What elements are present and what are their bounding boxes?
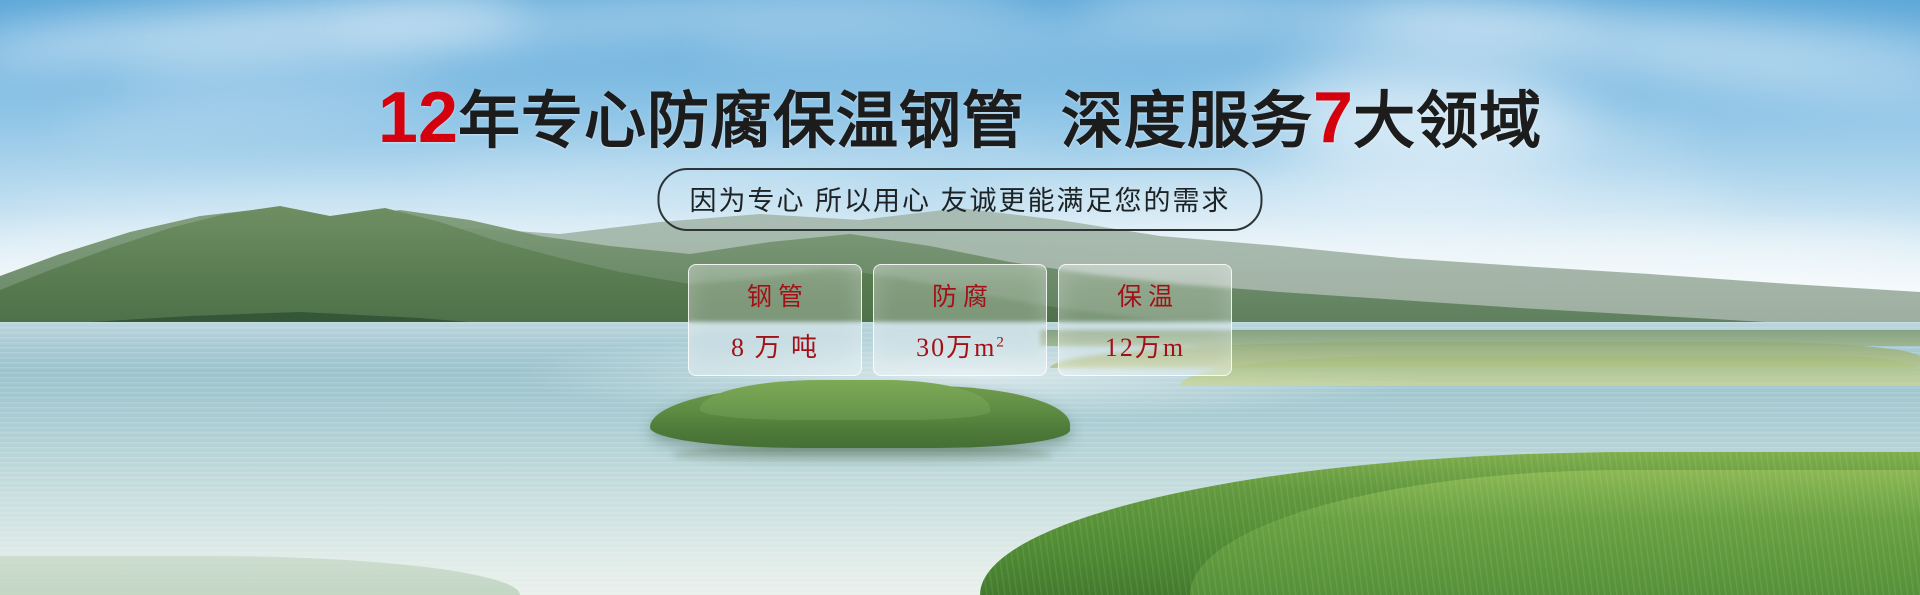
stat-card-value: 8 万 吨 (731, 327, 819, 364)
stat-card-label: 钢管 (741, 277, 809, 313)
marsh-bank (1180, 356, 1920, 386)
stat-card-value: 12万m (1105, 327, 1185, 364)
page-title: 12年专心防腐保温钢管深度服务7大领域 (0, 82, 1920, 154)
years-text: 年专心防腐保温钢管 (458, 87, 1025, 156)
stat-card: 钢管 8 万 吨 (688, 264, 862, 376)
stat-card-value-text: 8 万 吨 (731, 333, 819, 362)
grassy-island-top (700, 380, 990, 420)
fields-text: 大领域 (1353, 87, 1542, 156)
stat-card-value-text: 30万m (916, 333, 996, 362)
subtitle-pill: 因为专心 所以用心 友诚更能满足您的需求 (657, 168, 1262, 231)
stat-card-label: 保温 (1111, 277, 1179, 313)
fields-number: 7 (1313, 78, 1353, 158)
service-text: 深度服务 (1061, 87, 1313, 156)
stat-card-value-superscript: 2 (996, 334, 1004, 350)
stat-card-value-text: 12万m (1105, 333, 1185, 362)
stat-card-group: 钢管 8 万 吨 防腐 30万m2 保温 12万m (688, 264, 1232, 376)
stat-card: 防腐 30万m2 (873, 264, 1047, 376)
stat-card-value: 30万m2 (916, 327, 1004, 364)
years-number: 12 (378, 78, 458, 158)
hero-banner: 12年专心防腐保温钢管深度服务7大领域 因为专心 所以用心 友诚更能满足您的需求… (0, 0, 1920, 595)
stat-card-label: 防腐 (926, 277, 994, 313)
stat-card: 保温 12万m (1058, 264, 1232, 376)
